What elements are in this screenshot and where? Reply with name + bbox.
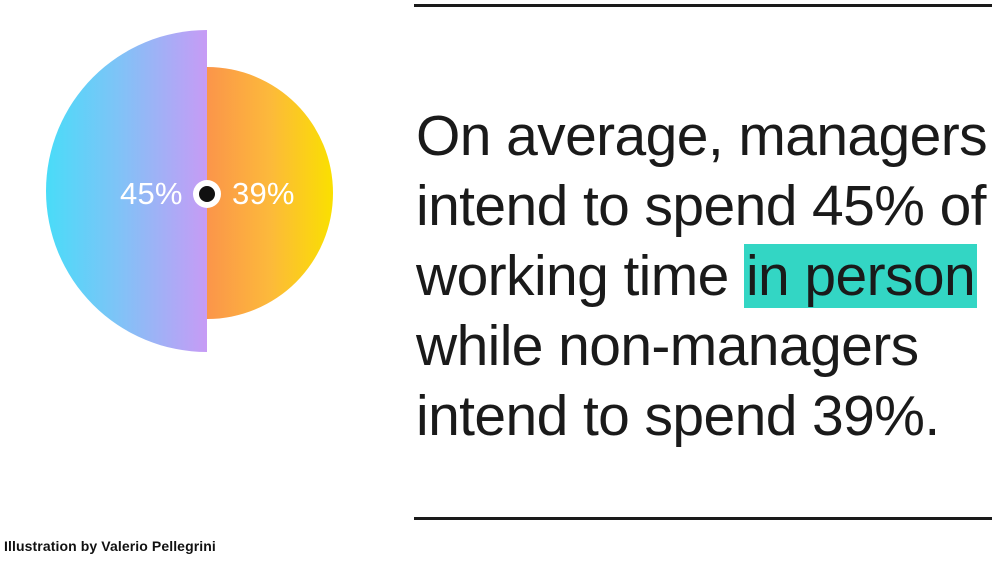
center-dot-icon (199, 186, 215, 202)
half-circle-chart-svg (0, 0, 400, 566)
divider-bottom (414, 517, 992, 520)
chart-center-marker (193, 180, 221, 208)
statement-part-2: while non-managers intend to spend 39%. (416, 314, 940, 448)
chart-label-non-managers: 39% (232, 178, 295, 209)
statement-text: On average, managers intend to spend 45%… (416, 101, 996, 451)
illustration-credit: Illustration by Valerio Pellegrini (4, 538, 216, 554)
half-circle-chart: 45% 39% (0, 0, 400, 566)
statement-panel: On average, managers intend to spend 45%… (414, 0, 992, 566)
divider-top (414, 4, 992, 7)
infographic-canvas: 45% 39% On average, managers intend to s… (0, 0, 1000, 566)
statement-highlight: in person (744, 244, 977, 308)
